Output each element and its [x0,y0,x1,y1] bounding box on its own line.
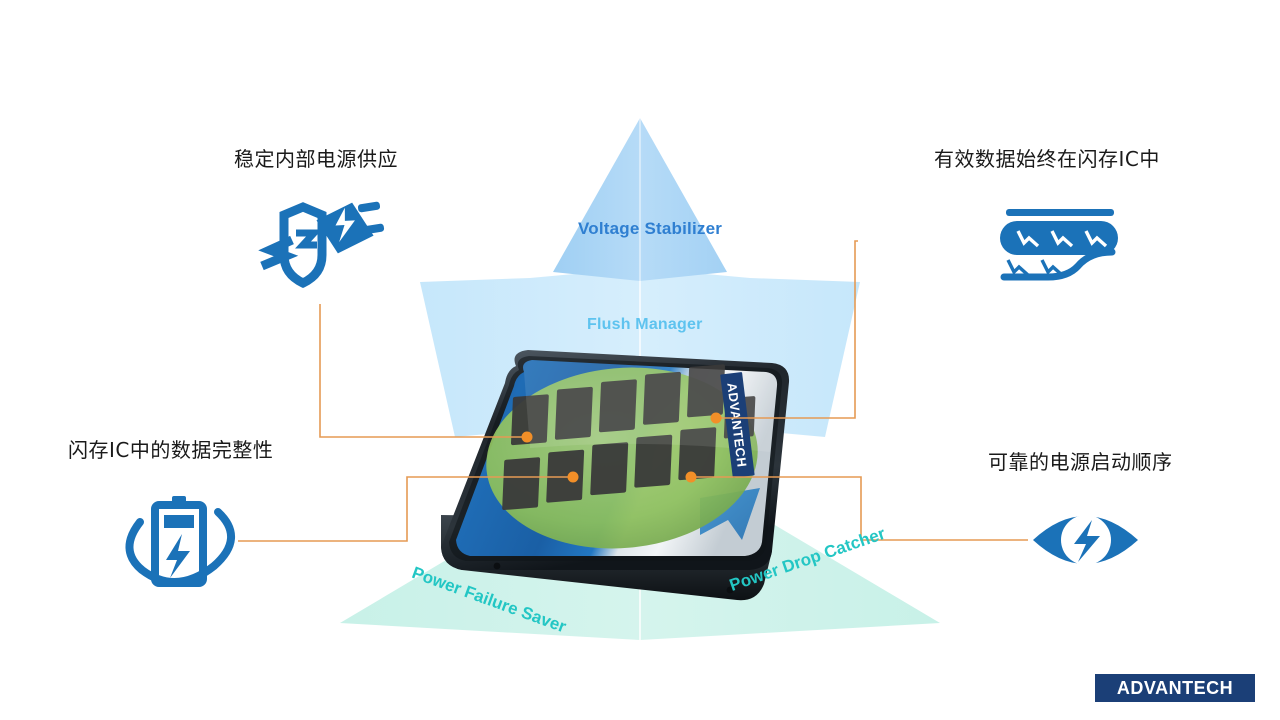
hotspot-dot-valid-data [711,413,722,424]
pyramid-tier-middle [420,268,860,437]
caption-stable-power-supply: 稳定内部电源供应 [234,143,398,172]
tier-label-flush-manager: Flush Manager [587,316,703,334]
device-brand-label: ADVANTECH [724,382,749,468]
connector-top-right [716,241,858,418]
slide-canvas: ADVANTECH [0,0,1280,720]
caption-power-up-sequence: 可靠的电源启动顺序 [988,446,1173,475]
tier-label-voltage-stabilizer: Voltage Stabilizer [578,219,722,239]
connector-bottom-left [238,477,573,541]
connector-top-left [320,304,527,437]
advantech-logo: ADVANTECH [1095,674,1255,702]
shield-plug-icon [262,200,384,283]
tier-label-power-failure-saver: Power Failure Saver [409,563,569,637]
caption-valid-data-in-flash: 有效数据始终在闪存IC中 [934,143,1160,172]
ssd-device: ADVANTECH [441,350,789,600]
flash-data-icon [1000,209,1118,277]
advantech-logo-text: ADVANTECH [1117,678,1233,699]
hotspot-dot-power-sequence [686,472,697,483]
tier-label-power-drop-catcher: Power Drop Catcher [727,524,888,596]
caption-data-integrity: 闪存IC中的数据完整性 [68,434,273,463]
eye-bolt-icon [1033,515,1138,565]
hotspot-dot-power-failure [568,472,579,483]
connector-dots [522,413,722,483]
pyramid-diagram: ADVANTECH [0,0,1280,720]
flash-chip-grid [502,362,757,510]
pyramid-tier-top [553,118,727,281]
connector-lines [238,241,1028,541]
battery-bolt-icon [129,496,231,583]
hotspot-dot-flash-integrity [522,432,533,443]
